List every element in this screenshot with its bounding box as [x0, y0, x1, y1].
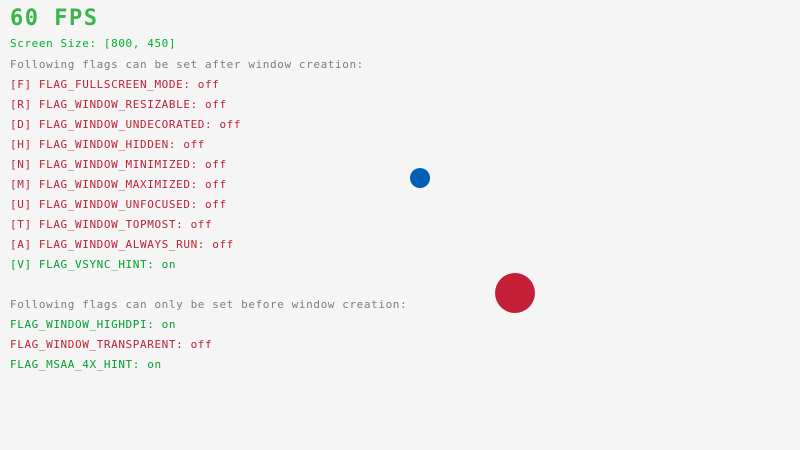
flag-line-flag-vsync-hint[interactable]: [V] FLAG_VSYNC_HINT: on — [10, 258, 176, 271]
runtime-flags-header: Following flags can be set after window … — [10, 58, 364, 71]
flag-line-flag-window-undecorated[interactable]: [D] FLAG_WINDOW_UNDECORATED: off — [10, 118, 241, 131]
creation-flags-header: Following flags can only be set before w… — [10, 298, 407, 311]
flag-line-flag-window-transparent[interactable]: FLAG_WINDOW_TRANSPARENT: off — [10, 338, 212, 351]
flag-line-flag-window-hidden[interactable]: [H] FLAG_WINDOW_HIDDEN: off — [10, 138, 205, 151]
blue-circle-shape — [410, 168, 430, 188]
screen-size-label: Screen Size: [800, 450] — [10, 37, 176, 50]
flag-line-flag-msaa-4x-hint[interactable]: FLAG_MSAA_4X_HINT: on — [10, 358, 162, 371]
flag-line-flag-window-maximized[interactable]: [M] FLAG_WINDOW_MAXIMIZED: off — [10, 178, 227, 191]
flag-line-flag-window-resizable[interactable]: [R] FLAG_WINDOW_RESIZABLE: off — [10, 98, 227, 111]
maroon-circle-shape — [495, 273, 535, 313]
fps-counter: 60 FPS — [10, 6, 98, 31]
flag-line-flag-window-topmost[interactable]: [T] FLAG_WINDOW_TOPMOST: off — [10, 218, 212, 231]
flag-line-flag-window-highdpi[interactable]: FLAG_WINDOW_HIGHDPI: on — [10, 318, 176, 331]
flag-line-flag-window-minimized[interactable]: [N] FLAG_WINDOW_MINIMIZED: off — [10, 158, 227, 171]
app-canvas: 60 FPS Screen Size: [800, 450] Following… — [0, 0, 800, 450]
flag-line-flag-window-unfocused[interactable]: [U] FLAG_WINDOW_UNFOCUSED: off — [10, 198, 227, 211]
flag-line-flag-fullscreen-mode[interactable]: [F] FLAG_FULLSCREEN_MODE: off — [10, 78, 219, 91]
flag-line-flag-window-always-run[interactable]: [A] FLAG_WINDOW_ALWAYS_RUN: off — [10, 238, 234, 251]
